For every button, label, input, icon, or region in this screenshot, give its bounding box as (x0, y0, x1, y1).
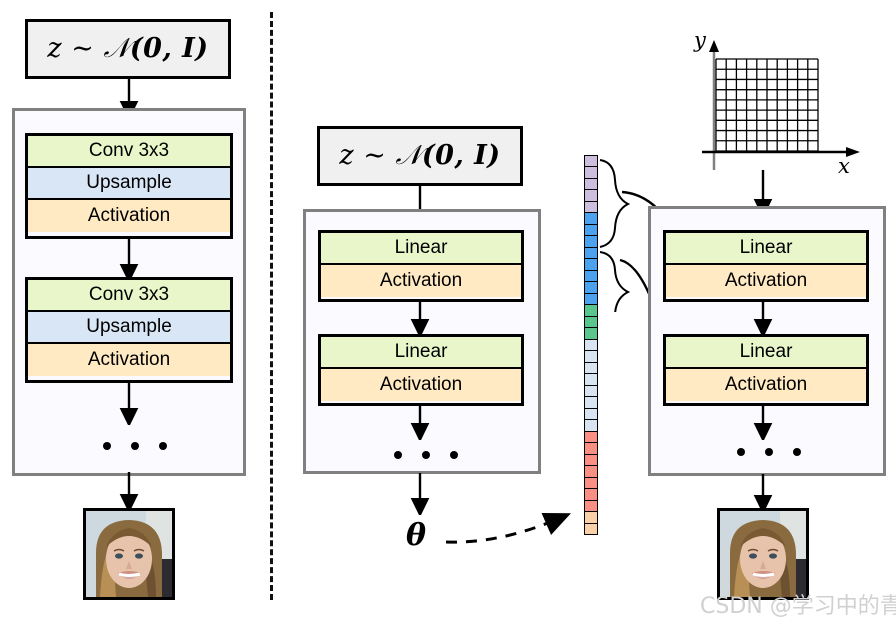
arrow-mlp1-to-mlp2 (409, 302, 433, 336)
layer-activation: Activation (666, 369, 866, 401)
layer-linear: Linear (666, 337, 866, 369)
layer-linear: Linear (321, 337, 521, 369)
conv-block-1: Conv 3x3 Upsample Activation (25, 133, 233, 239)
vector-cell-salmon (585, 455, 597, 466)
implicit-block-2: Linear Activation (663, 334, 869, 406)
layer-activation: Activation (666, 265, 866, 297)
vector-cell-salmon (585, 489, 597, 500)
theta-symbol: θ (406, 518, 426, 553)
mlp-block-1: Linear Activation (318, 230, 524, 302)
layer-upsample: Upsample (28, 312, 230, 344)
vector-cell-salmon (585, 432, 597, 443)
vector-cell-pale-blue (585, 340, 597, 351)
vector-cell-blue (585, 294, 597, 305)
vector-cell-peach (585, 512, 597, 523)
arrow-block-to-face-right (752, 474, 776, 512)
arrow-block-to-theta (409, 473, 433, 515)
vector-cell-pale-blue (585, 374, 597, 385)
csdn-watermark: CSDN @学习中的青年 (700, 588, 896, 620)
layer-conv: Conv 3x3 (28, 280, 230, 312)
vector-cell-green (585, 328, 597, 339)
vector-cell-pale-blue (585, 397, 597, 408)
vector-cell-blue (585, 213, 597, 224)
vector-cell-purple (585, 156, 597, 167)
layer-activation: Activation (28, 200, 230, 232)
implicit-block-1: Linear Activation (663, 230, 869, 302)
vector-cell-salmon (585, 478, 597, 489)
ellipsis-middle (394, 451, 458, 459)
x-axis-label: x (838, 154, 850, 178)
layer-activation: Activation (321, 265, 521, 297)
output-face-left (83, 508, 175, 600)
output-face-right (717, 508, 809, 600)
vector-cell-blue (585, 248, 597, 259)
figure-canvas: z ∼ 𝒩(0, I) Conv 3x3 Upsample Activation… (0, 0, 896, 621)
parameter-vector (584, 155, 598, 535)
vector-cell-pale-blue (585, 351, 597, 362)
arrow-implicit2-to-dots (752, 406, 776, 440)
vector-cell-pale-blue (585, 420, 597, 431)
y-axis-label: y (694, 28, 706, 52)
vector-cell-blue (585, 259, 597, 270)
arrow-conv1-to-conv2 (118, 239, 142, 281)
vector-cell-green (585, 305, 597, 316)
arrow-block-to-face-left (118, 472, 142, 512)
mlp-block-2: Linear Activation (318, 334, 524, 406)
vector-cell-pale-blue (585, 363, 597, 374)
vector-cell-pale-blue (585, 409, 597, 420)
vector-cell-purple (585, 202, 597, 213)
vector-cell-purple (585, 190, 597, 201)
vector-cell-blue (585, 225, 597, 236)
vector-cell-salmon (585, 443, 597, 454)
vector-cell-peach (585, 524, 597, 534)
layer-activation: Activation (28, 344, 230, 376)
arrow-theta-to-vector (440, 498, 590, 558)
vector-cell-blue (585, 271, 597, 282)
ellipsis-right (737, 448, 801, 456)
conv-block-2: Conv 3x3 Upsample Activation (25, 277, 233, 383)
vector-cell-purple (585, 167, 597, 178)
vector-cell-salmon (585, 501, 597, 512)
vector-cell-blue (585, 236, 597, 247)
vector-cell-green (585, 317, 597, 328)
latent-box-left: z ∼ 𝒩(0, I) (25, 19, 231, 79)
ellipsis-left (103, 442, 167, 450)
latent-box-middle: z ∼ 𝒩(0, I) (317, 126, 523, 186)
coordinate-grid-plot: y x (690, 30, 870, 175)
layer-activation: Activation (321, 369, 521, 401)
layer-upsample: Upsample (28, 168, 230, 200)
vector-cell-purple (585, 179, 597, 190)
latent-formula-middle: z ∼ 𝒩(0, I) (339, 140, 500, 172)
vector-cell-pale-blue (585, 386, 597, 397)
arrow-implicit1-to-implicit2 (752, 302, 776, 336)
vector-cell-salmon (585, 466, 597, 477)
layer-conv: Conv 3x3 (28, 136, 230, 168)
latent-formula-left: z ∼ 𝒩(0, I) (47, 33, 208, 65)
layer-linear: Linear (666, 233, 866, 265)
arrow-mlp2-to-dots (409, 406, 433, 440)
layer-linear: Linear (321, 233, 521, 265)
arrow-conv2-to-dots (118, 383, 142, 425)
vector-cell-blue (585, 282, 597, 293)
panel-divider (270, 12, 273, 600)
